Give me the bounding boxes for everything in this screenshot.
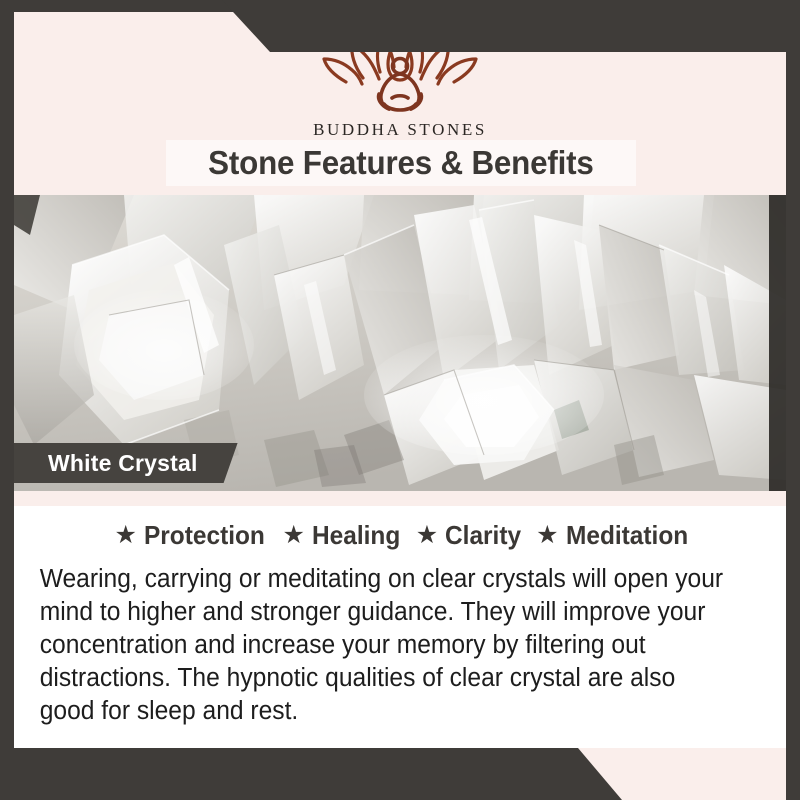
stone-name-label: White Crystal bbox=[48, 450, 198, 477]
product-info-poster: BUDDHA STONES Stone Features & Benefits bbox=[0, 0, 800, 800]
feature-item-protection: ★ Protection bbox=[104, 520, 272, 551]
photo-divider bbox=[14, 491, 786, 506]
feature-item-healing: ★ Healing bbox=[272, 520, 405, 551]
star-icon: ★ bbox=[416, 523, 438, 548]
star-icon: ★ bbox=[282, 523, 304, 548]
feature-item-clarity: ★ Clarity bbox=[406, 520, 526, 551]
feature-list: ★ Protection ★ Healing ★ Clarity ★ Medit… bbox=[32, 520, 768, 551]
feature-label: Protection bbox=[144, 520, 265, 551]
feature-label: Healing bbox=[312, 520, 400, 551]
feature-item-meditation: ★ Meditation bbox=[526, 520, 695, 551]
star-icon: ★ bbox=[114, 523, 136, 548]
page-title: Stone Features & Benefits bbox=[208, 144, 593, 182]
frame-left-edge bbox=[0, 0, 14, 800]
description-text: Wearing, carrying or meditating on clear… bbox=[32, 563, 742, 727]
frame-right-edge bbox=[786, 0, 800, 800]
product-photo: White Crystal bbox=[14, 195, 786, 491]
stone-name-banner: White Crystal bbox=[14, 443, 238, 483]
star-icon: ★ bbox=[536, 523, 558, 548]
feature-label: Meditation bbox=[566, 520, 688, 551]
poster-content: ★ Protection ★ Healing ★ Clarity ★ Medit… bbox=[14, 506, 786, 727]
brand-name: BUDDHA STONES bbox=[14, 120, 786, 140]
poster-page: BUDDHA STONES Stone Features & Benefits bbox=[14, 12, 786, 788]
section-title-box: Stone Features & Benefits bbox=[166, 140, 636, 186]
feature-label: Clarity bbox=[445, 520, 521, 551]
